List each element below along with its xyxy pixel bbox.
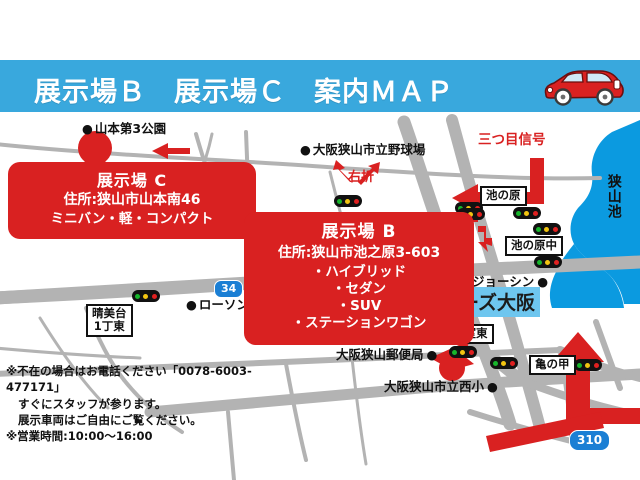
callout-b-item-2: ・SUV [248, 298, 470, 315]
intersection-ikenohara: 池の原 [480, 186, 527, 206]
intersection-ikenohara-naka: 池の原中 [505, 236, 563, 256]
note-line-4: ※営業時間:10:00～16:00 [6, 429, 153, 443]
poi-label-yamamoto-3rd-park: 山本第3公園 [82, 118, 166, 137]
callout-c-item-0: ミニバン・軽・コンパクト [12, 211, 252, 228]
intersection-line-2: 1丁東 [92, 320, 127, 333]
signal-ikenohara-naka-north [533, 223, 561, 235]
signal-iwamuro [490, 357, 518, 369]
poi-label-nishi-elementary: 大阪狭山市立西小 [384, 376, 498, 395]
route-34-shield: 34 [214, 280, 243, 298]
intersection-harumidai-1chome-higashi: 晴美台 1丁東 [86, 304, 133, 337]
note-line-1: ※不在の場合はお電話ください「0078-6003-477171」 [6, 364, 252, 394]
callout-site-b: 展示場 B 住所:狭山市池之原3-603 ・ハイブリッド ・セダン ・SUV ・… [244, 212, 474, 345]
signal-turnright [334, 195, 362, 207]
poi-label-baseball-stadium: 大阪狭山市立野球場 [300, 139, 425, 158]
callout-b-address: 住所:狭山市池之原3-603 [248, 245, 470, 263]
red-minivan-icon [536, 62, 628, 110]
page-title: 展示場Ｂ 展示場Ｃ 案内ＭＡＰ [34, 70, 454, 109]
map-advertisement-page: 展示場Ｂ 展示場Ｃ 案内ＭＡＰ [0, 0, 640, 480]
annotation-third-signal: 三つ目信号 [478, 128, 546, 148]
callout-b-item-1: ・セダン [248, 281, 470, 298]
route-310-shield: 310 [569, 430, 610, 451]
signal-kamenoko [574, 359, 602, 371]
signal-ikenohara-naka-south [534, 256, 562, 268]
note-line-2: すぐにスタッフが参ります。 [6, 396, 306, 412]
callout-site-c: 展示場 C 住所:狭山市山本南46 ミニバン・軽・コンパクト [8, 162, 256, 239]
sayama-pond-label: 狭山池 [606, 174, 621, 219]
signal-harumidai [132, 290, 160, 302]
callout-c-address: 住所:狭山市山本南46 [12, 192, 252, 210]
footer-note: ※不在の場合はお電話ください「0078-6003-477171」 すぐにスタッフ… [6, 363, 306, 445]
intersection-kamenoko: 亀の甲 [529, 355, 576, 375]
poi-label-post-office: 大阪狭山郵便局 [336, 344, 437, 363]
signal-post-office [449, 346, 477, 358]
callout-b-item-3: ・ステーションワゴン [248, 315, 470, 332]
callout-b-title: 展示場 B [248, 222, 470, 244]
intersection-line-1: 晴美台 [92, 307, 127, 320]
callout-c-title: 展示場 C [12, 171, 252, 191]
signal-ikenohara [513, 207, 541, 219]
note-line-3: 展示車両はご自由にご覧ください。 [6, 412, 306, 428]
callout-b-item-0: ・ハイブリッド [248, 264, 470, 281]
annotation-turn-right: 右折 [348, 166, 374, 185]
